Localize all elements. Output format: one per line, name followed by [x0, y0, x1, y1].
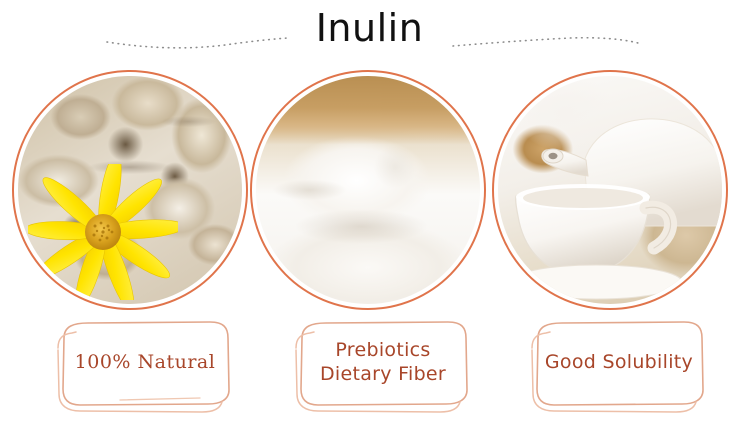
teaset-graphic	[498, 76, 722, 304]
feature-image-solubility	[492, 70, 728, 310]
sketch-box-outline	[50, 318, 240, 418]
feature-label-solubility[interactable]: Good Solubility	[524, 318, 714, 418]
sketch-box-outline	[524, 318, 714, 418]
feature-label-natural[interactable]: 100% Natural	[50, 318, 240, 418]
feature-image-row	[0, 70, 739, 315]
sketch-box-outline	[288, 318, 478, 418]
jerusalem-artichoke-photo	[18, 76, 242, 304]
yellow-flower-graphic	[28, 164, 178, 300]
dotted-divider-right	[450, 30, 640, 52]
inulin-product-banner: Inulin	[0, 0, 739, 429]
feature-image-prebiotics	[250, 70, 486, 310]
feature-image-natural	[12, 70, 248, 310]
dotted-divider-left	[105, 30, 290, 52]
inulin-powder-photo	[256, 76, 480, 304]
teapot-teacup-photo	[498, 76, 722, 304]
feature-label-prebiotics[interactable]: Prebiotics Dietary Fiber	[288, 318, 478, 418]
feature-label-row: 100% Natural Prebiotics Dietary Fiber Go…	[0, 318, 739, 422]
